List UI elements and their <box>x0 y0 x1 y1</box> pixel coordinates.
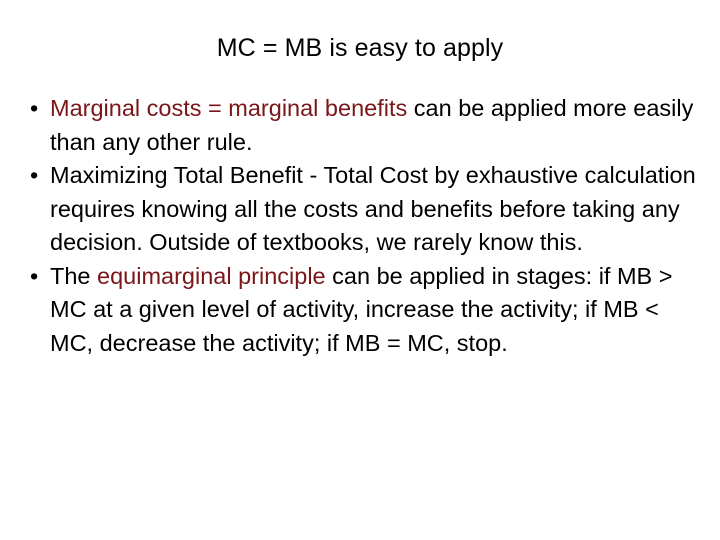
list-item: • The equimarginal principle can be appl… <box>22 260 704 361</box>
bullet-marker-icon: • <box>30 260 38 294</box>
bullet-1-segment-1: Marginal costs = marginal benefits <box>50 95 407 121</box>
page-title: MC = MB is easy to apply <box>0 33 720 63</box>
bullet-3-segment-1: The <box>50 263 97 289</box>
presentation-slide: MC = MB is easy to apply • Marginal cost… <box>0 0 720 540</box>
bullet-text-2: Maximizing Total Benefit - Total Cost by… <box>50 162 696 255</box>
bullet-3-segment-2: equimarginal principle <box>97 263 326 289</box>
bullet-text-3: The equimarginal principle can be applie… <box>50 263 672 356</box>
bullet-marker-icon: • <box>30 159 38 193</box>
list-item: • Marginal costs = marginal benefits can… <box>22 92 704 159</box>
bullet-list: • Marginal costs = marginal benefits can… <box>22 92 704 360</box>
bullet-marker-icon: • <box>30 92 38 126</box>
bullet-2-segment-1: Maximizing Total Benefit - Total Cost by… <box>50 162 696 255</box>
bullet-text-1: Marginal costs = marginal benefits can b… <box>50 95 693 155</box>
slide-body: • Marginal costs = marginal benefits can… <box>22 92 704 360</box>
list-item: • Maximizing Total Benefit - Total Cost … <box>22 159 704 260</box>
